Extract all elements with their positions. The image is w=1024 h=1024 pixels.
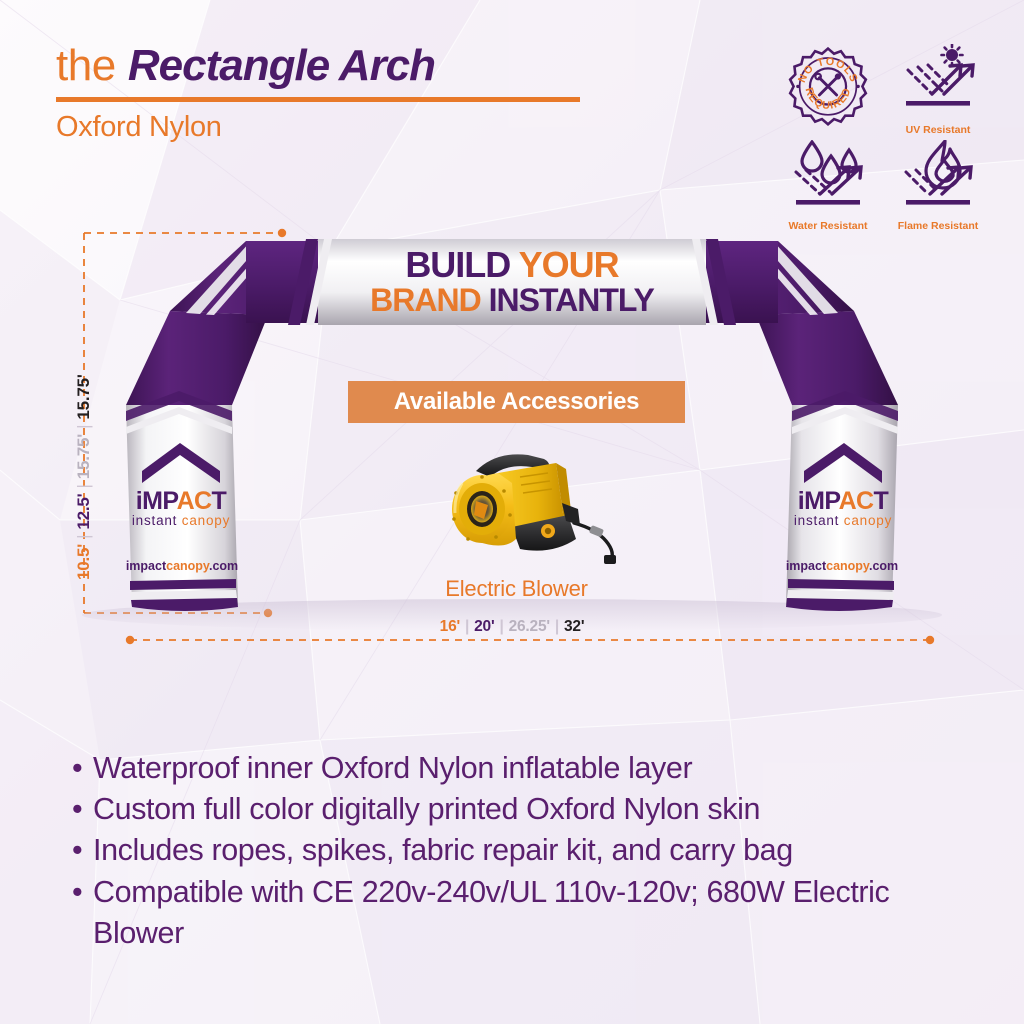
feature-text: Includes ropes, spikes, fabric repair ki… bbox=[93, 830, 972, 871]
svg-text:iMPACT: iMPACT bbox=[136, 487, 227, 515]
logo-url-part3: .com bbox=[209, 559, 238, 573]
logo-brand-part2-right: AC bbox=[839, 487, 874, 515]
dim-separator: | bbox=[555, 618, 559, 635]
bullet-icon: • bbox=[72, 789, 93, 830]
electric-blower-image bbox=[424, 443, 649, 573]
logo-brand-part1-right: iMP bbox=[798, 487, 841, 515]
dim-separator: | bbox=[74, 484, 93, 488]
svg-text:impactcanopy.com: impactcanopy.com bbox=[786, 559, 898, 573]
uv-resistant-icon bbox=[898, 44, 978, 118]
page-header: the Rectangle Arch Oxford Nylon bbox=[56, 44, 580, 144]
svg-text:BUILD YOUR: BUILD YOUR bbox=[405, 244, 619, 285]
dim-separator: | bbox=[74, 425, 93, 429]
feature-text: Custom full color digitally printed Oxfo… bbox=[93, 789, 972, 830]
logo-brand-part3-right: T bbox=[874, 487, 889, 515]
feature-item: • Waterproof inner Oxford Nylon inflatab… bbox=[72, 748, 972, 789]
feature-item: • Includes ropes, spikes, fabric repair … bbox=[72, 830, 972, 871]
feature-badges: NO TOOLS REQUIRED bbox=[780, 44, 1000, 229]
logo-tagline-part1-right: instant bbox=[794, 513, 844, 528]
page-subtitle: Oxford Nylon bbox=[56, 111, 580, 144]
logo-brand-part3: T bbox=[212, 487, 227, 515]
flame-resistant-icon bbox=[898, 140, 978, 214]
badge-label-uv: UV Resistant bbox=[884, 124, 992, 136]
dim-separator: | bbox=[465, 618, 469, 635]
feature-list: • Waterproof inner Oxford Nylon inflatab… bbox=[72, 748, 972, 954]
seal-top-text: NO TOOLS bbox=[796, 56, 860, 85]
bullet-icon: • bbox=[72, 872, 93, 913]
height-value-3: 15.75' bbox=[74, 434, 93, 479]
arch-top-beam: BUILD YOUR BRAND INSTANTLY bbox=[246, 239, 778, 325]
water-resistant-icon bbox=[788, 140, 868, 214]
height-value-2: 12.5' bbox=[74, 494, 93, 530]
width-value-3: 26.25' bbox=[509, 618, 550, 635]
width-value-2: 20' bbox=[474, 618, 494, 635]
logo-tagline-part2-right: canopy bbox=[844, 513, 892, 528]
headline-brand: BRAND bbox=[370, 282, 481, 318]
width-dimensions: 16'|20'|26.25'|32' bbox=[0, 618, 1024, 636]
svg-text:NO TOOLS: NO TOOLS bbox=[796, 56, 860, 85]
logo-brand-part2: AC bbox=[177, 487, 212, 515]
badge-uv-resistant: UV Resistant bbox=[884, 44, 992, 136]
badge-no-tools-required: NO TOOLS REQUIRED bbox=[782, 46, 874, 137]
width-value-1: 16' bbox=[440, 618, 460, 635]
logo-url-part1: impact bbox=[126, 559, 167, 573]
logo-tagline-part2: canopy bbox=[182, 513, 230, 528]
headline-instantly: INSTANTLY bbox=[489, 282, 655, 318]
title-main: Rectangle Arch bbox=[128, 41, 435, 90]
headline-build: BUILD bbox=[405, 244, 510, 285]
svg-text:instant canopy: instant canopy bbox=[132, 513, 230, 528]
title-prefix: the bbox=[56, 41, 116, 90]
logo-url-part1-right: impact bbox=[786, 559, 827, 573]
svg-text:BRAND INSTANTLY: BRAND INSTANTLY bbox=[370, 282, 654, 318]
title-underline bbox=[56, 97, 580, 102]
no-tools-required-icon: NO TOOLS REQUIRED bbox=[785, 46, 871, 132]
svg-text:instant canopy: instant canopy bbox=[794, 513, 892, 528]
feature-text: Waterproof inner Oxford Nylon inflatable… bbox=[93, 748, 972, 789]
height-value-4: 15.75' bbox=[74, 374, 93, 419]
height-value-1: 10.5' bbox=[74, 544, 93, 580]
feature-item: • Compatible with CE 220v-240v/UL 110v-1… bbox=[72, 872, 972, 954]
accessories-banner-label: Available Accessories bbox=[394, 388, 639, 416]
electric-blower-caption: Electric Blower bbox=[348, 576, 685, 602]
logo-tagline-part1: instant bbox=[132, 513, 182, 528]
logo-url-part2-right: canopy bbox=[826, 559, 870, 573]
page-title: the Rectangle Arch bbox=[56, 44, 580, 88]
svg-text:impactcanopy.com: impactcanopy.com bbox=[126, 559, 238, 573]
logo-brand-part1: iMP bbox=[136, 487, 179, 515]
available-accessories-banner: Available Accessories bbox=[348, 381, 685, 423]
logo-url-part2: canopy bbox=[166, 559, 210, 573]
headline-your: YOUR bbox=[519, 244, 620, 285]
dim-separator: | bbox=[74, 535, 93, 539]
height-dimensions: 10.5'|12.5'|15.75'|15.75' bbox=[52, 330, 78, 580]
width-value-4: 32' bbox=[564, 618, 584, 635]
bullet-icon: • bbox=[72, 748, 93, 789]
feature-text: Compatible with CE 220v-240v/UL 110v-120… bbox=[93, 872, 972, 954]
dim-separator: | bbox=[499, 618, 503, 635]
bullet-icon: • bbox=[72, 830, 93, 871]
feature-item: • Custom full color digitally printed Ox… bbox=[72, 789, 972, 830]
logo-url-part3-right: .com bbox=[869, 559, 898, 573]
svg-text:iMPACT: iMPACT bbox=[798, 487, 889, 515]
